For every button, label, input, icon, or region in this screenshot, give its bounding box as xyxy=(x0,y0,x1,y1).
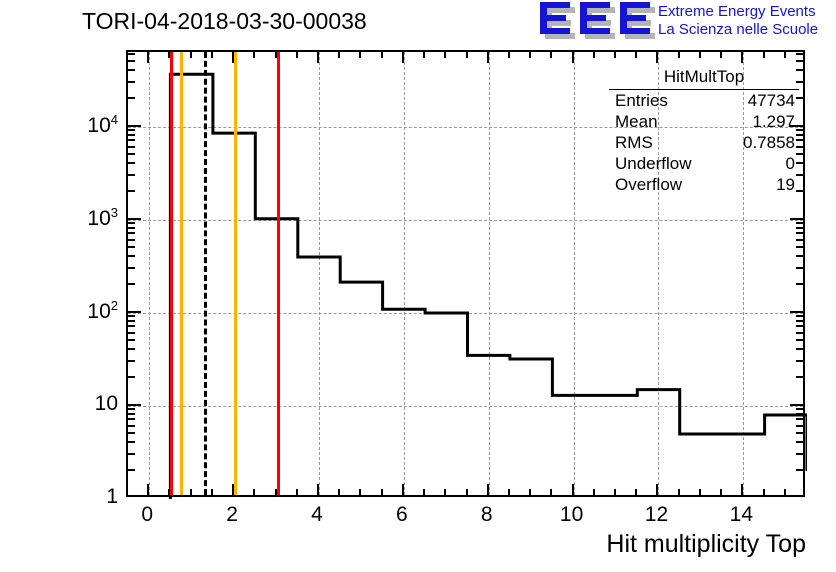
stats-row-value: 47734 xyxy=(748,90,795,111)
y-tick-minor-right xyxy=(796,348,804,350)
x-tick-major xyxy=(147,484,149,496)
y-tick-minor xyxy=(127,348,135,350)
x-tick-minor xyxy=(275,489,277,496)
y-tick-label: 104 xyxy=(87,112,118,138)
x-tick-major-top xyxy=(317,51,319,63)
y-tick-minor-right xyxy=(796,413,804,415)
x-tick-minor xyxy=(466,489,468,496)
x-tick-minor-top xyxy=(466,51,468,58)
x-tick-major-top xyxy=(402,51,404,63)
y-tick-major-right xyxy=(790,311,804,313)
x-tick-minor xyxy=(593,489,595,496)
y-tick-minor-right xyxy=(796,315,804,317)
x-tick-minor-top xyxy=(338,51,340,58)
x-tick-minor-top xyxy=(381,51,383,58)
y-tick-minor xyxy=(127,267,135,269)
x-tick-minor-top xyxy=(614,51,616,58)
stats-box: HitMultTop Entries47734Mean1.297RMS0.785… xyxy=(609,66,799,198)
y-tick-major xyxy=(127,404,141,406)
x-tick-minor xyxy=(381,489,383,496)
x-tick-minor xyxy=(423,489,425,496)
y-tick-minor xyxy=(127,441,135,443)
y-tick-minor-right xyxy=(796,325,804,327)
eee-logo-mark xyxy=(540,2,652,40)
x-tick-minor-top xyxy=(359,51,361,58)
x-tick-major xyxy=(656,484,658,496)
x-tick-minor xyxy=(211,489,213,496)
marker-line-0 xyxy=(170,52,173,495)
x-tick-minor-top xyxy=(720,51,722,58)
x-tick-minor-top xyxy=(678,51,680,58)
x-tick-minor xyxy=(550,489,552,496)
logo-letter-e-3-main xyxy=(620,2,650,34)
stats-row: Entries47734 xyxy=(609,90,799,111)
x-tick-major-top xyxy=(656,51,658,63)
x-tick-major xyxy=(572,484,574,496)
y-tick-minor-right xyxy=(796,239,804,241)
x-tick-major-top xyxy=(572,51,574,63)
stats-box-title: HitMultTop xyxy=(609,66,799,90)
x-tick-minor-top xyxy=(423,51,425,58)
y-tick-minor xyxy=(127,97,135,99)
x-tick-minor-top xyxy=(635,51,637,58)
x-tick-minor-top xyxy=(508,51,510,58)
x-tick-minor xyxy=(296,489,298,496)
x-tick-minor xyxy=(614,489,616,496)
stats-row: RMS0.7858 xyxy=(609,132,799,153)
y-tick-major-right xyxy=(790,404,804,406)
y-tick-minor-right xyxy=(796,227,804,229)
y-tick-major xyxy=(127,218,141,220)
y-tick-label: 1 xyxy=(106,485,118,509)
marker-line-4 xyxy=(277,52,280,495)
y-tick-minor xyxy=(127,134,135,136)
stats-row: Mean1.297 xyxy=(609,111,799,132)
marker-line-1 xyxy=(180,52,183,495)
stats-row-value: 0.7858 xyxy=(743,132,795,153)
y-tick-minor-right xyxy=(796,283,804,285)
y-tick-minor xyxy=(127,469,135,471)
x-tick-minor-top xyxy=(211,51,213,58)
stats-row: Underflow0 xyxy=(609,153,799,174)
x-tick-label: 4 xyxy=(311,503,323,527)
x-axis-title: Hit multiplicity Top xyxy=(606,530,806,559)
x-tick-minor xyxy=(253,489,255,496)
y-tick-minor xyxy=(127,320,135,322)
x-tick-major-top xyxy=(232,51,234,63)
x-tick-major xyxy=(317,484,319,496)
y-tick-major xyxy=(127,125,141,127)
y-tick-minor-right xyxy=(796,469,804,471)
x-tick-minor-top xyxy=(699,51,701,58)
x-tick-minor-top xyxy=(444,51,446,58)
y-tick-minor-right xyxy=(796,255,804,257)
x-tick-minor-top xyxy=(529,51,531,58)
x-tick-major xyxy=(487,484,489,496)
y-tick-label: 103 xyxy=(87,205,118,231)
x-tick-minor xyxy=(508,489,510,496)
x-tick-minor xyxy=(699,489,701,496)
x-tick-minor xyxy=(720,489,722,496)
root-canvas: TORI-04-2018-03-30-00038 xyxy=(0,0,836,572)
y-tick-minor xyxy=(127,315,135,317)
y-tick-minor xyxy=(127,453,135,455)
y-tick-label: 102 xyxy=(87,298,118,324)
x-tick-label: 2 xyxy=(226,503,238,527)
y-tick-minor xyxy=(127,146,135,148)
y-tick-minor-right xyxy=(796,222,804,224)
y-tick-minor-right xyxy=(796,432,804,434)
y-tick-minor xyxy=(127,227,135,229)
y-tick-minor xyxy=(127,53,135,55)
marker-line-2 xyxy=(204,52,207,495)
y-tick-minor xyxy=(127,360,135,362)
eee-logo-line1: Extreme Energy Events xyxy=(658,3,818,21)
stats-row-value: 0 xyxy=(786,153,795,174)
x-tick-label: 14 xyxy=(730,503,753,527)
y-tick-minor xyxy=(127,153,135,155)
y-tick-minor xyxy=(127,69,135,71)
y-tick-minor-right xyxy=(796,425,804,427)
x-tick-minor-top xyxy=(168,51,170,58)
y-tick-minor xyxy=(127,418,135,420)
y-tick-minor xyxy=(127,190,135,192)
y-tick-minor xyxy=(127,432,135,434)
y-tick-minor-right xyxy=(796,453,804,455)
y-tick-minor-right xyxy=(796,246,804,248)
y-tick-minor-right xyxy=(796,339,804,341)
x-tick-minor-top xyxy=(550,51,552,58)
x-tick-minor xyxy=(635,489,637,496)
stats-row-key: Overflow xyxy=(615,174,682,195)
y-tick-minor-right xyxy=(796,441,804,443)
stats-row-value: 19 xyxy=(776,174,795,195)
y-tick-minor xyxy=(127,376,135,378)
y-tick-minor-right xyxy=(796,232,804,234)
x-tick-major-top xyxy=(147,51,149,63)
x-tick-minor xyxy=(168,489,170,496)
eee-logo-line2: La Scienza nelle Scuole xyxy=(658,21,818,39)
logo-letter-e-3 xyxy=(620,2,650,34)
y-tick-minor-right xyxy=(796,320,804,322)
x-tick-major xyxy=(741,484,743,496)
x-tick-label: 10 xyxy=(560,503,583,527)
y-tick-minor xyxy=(127,81,135,83)
y-tick-minor-right xyxy=(796,332,804,334)
eee-logo-text: Extreme Energy Events La Scienza nelle S… xyxy=(658,3,818,39)
logo-letter-e-1-main xyxy=(540,2,570,34)
y-tick-minor xyxy=(127,408,135,410)
y-tick-minor xyxy=(127,174,135,176)
y-tick-minor-right xyxy=(796,376,804,378)
x-tick-label: 12 xyxy=(645,503,668,527)
x-tick-minor-top xyxy=(275,51,277,58)
y-tick-minor xyxy=(127,246,135,248)
stats-row-value: 1.297 xyxy=(752,111,795,132)
page-title: TORI-04-2018-03-30-00038 xyxy=(82,8,367,35)
y-tick-major xyxy=(127,311,141,313)
x-tick-label: 8 xyxy=(481,503,493,527)
x-tick-label: 6 xyxy=(396,503,408,527)
x-tick-label: 0 xyxy=(141,503,153,527)
y-tick-minor-right xyxy=(796,408,804,410)
eee-logo: Extreme Energy Events La Scienza nelle S… xyxy=(540,2,832,42)
y-tick-minor xyxy=(127,425,135,427)
y-tick-minor xyxy=(127,413,135,415)
y-tick-minor-right xyxy=(796,267,804,269)
y-tick-minor-right xyxy=(796,53,804,55)
y-tick-minor xyxy=(127,60,135,62)
y-tick-minor xyxy=(127,232,135,234)
stats-row-key: RMS xyxy=(615,132,653,153)
x-tick-minor-top xyxy=(784,51,786,58)
x-tick-minor xyxy=(784,489,786,496)
x-tick-minor-top xyxy=(253,51,255,58)
x-tick-minor xyxy=(529,489,531,496)
y-tick-label: 10 xyxy=(95,392,118,416)
y-tick-minor xyxy=(127,222,135,224)
y-tick-minor xyxy=(127,255,135,257)
y-tick-major-right xyxy=(790,218,804,220)
stats-row-key: Underflow xyxy=(615,153,692,174)
x-tick-major xyxy=(402,484,404,496)
stats-box-rows: Entries47734Mean1.297RMS0.7858Underflow0… xyxy=(609,90,799,195)
x-tick-minor xyxy=(126,489,128,496)
y-tick-minor xyxy=(127,283,135,285)
y-tick-minor-right xyxy=(796,418,804,420)
y-tick-minor xyxy=(127,339,135,341)
x-tick-major-top xyxy=(741,51,743,63)
y-tick-minor xyxy=(127,239,135,241)
y-tick-minor xyxy=(127,139,135,141)
stats-row: Overflow19 xyxy=(609,174,799,195)
x-tick-minor-top xyxy=(593,51,595,58)
x-tick-major-top xyxy=(487,51,489,63)
y-tick-minor-right xyxy=(796,360,804,362)
y-tick-minor-right xyxy=(796,60,804,62)
x-tick-minor xyxy=(359,489,361,496)
x-tick-major xyxy=(232,484,234,496)
logo-letter-e-2-main xyxy=(580,2,610,34)
marker-line-3 xyxy=(234,52,237,495)
y-tick-minor xyxy=(127,332,135,334)
y-tick-minor xyxy=(127,129,135,131)
stats-row-key: Mean xyxy=(615,111,658,132)
logo-letter-e-2 xyxy=(580,2,610,34)
x-tick-minor xyxy=(190,489,192,496)
x-tick-minor xyxy=(763,489,765,496)
y-tick-minor xyxy=(127,325,135,327)
x-tick-minor-top xyxy=(190,51,192,58)
x-tick-minor xyxy=(338,489,340,496)
x-tick-minor-top xyxy=(763,51,765,58)
x-tick-minor xyxy=(678,489,680,496)
y-tick-minor xyxy=(127,162,135,164)
x-tick-minor xyxy=(444,489,446,496)
stats-row-key: Entries xyxy=(615,90,668,111)
logo-letter-e-1 xyxy=(540,2,570,34)
x-tick-minor-top xyxy=(296,51,298,58)
